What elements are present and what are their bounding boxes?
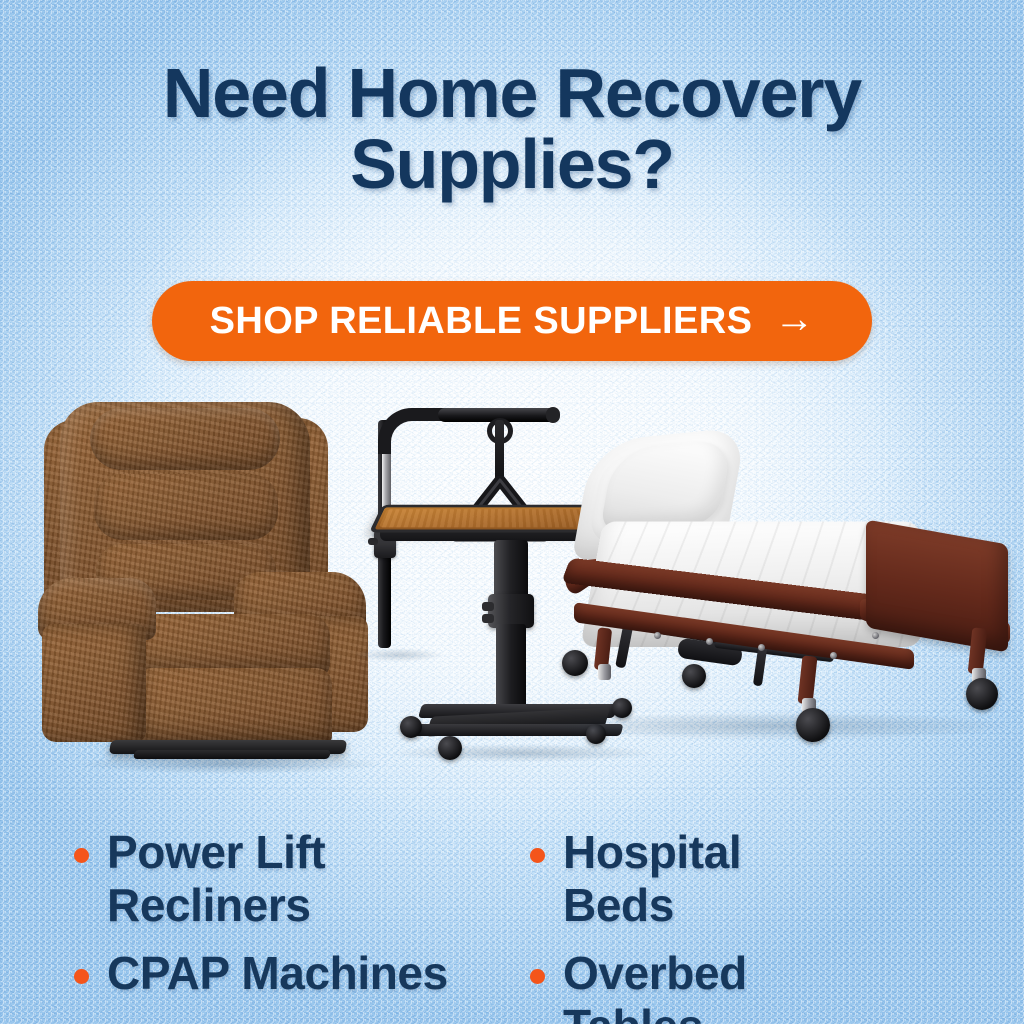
recliner-mid-cushion [94,474,278,540]
bed-rivet-1 [654,632,661,639]
bed-leg-chrome-1 [598,664,611,680]
table-caster-3 [438,736,462,760]
bed-rivet-4 [830,652,837,659]
cta-button-label: SHOP RELIABLE SUPPLIERS [210,300,753,343]
bed-caster-4 [682,664,706,688]
shop-reliable-suppliers-button[interactable]: SHOP RELIABLE SUPPLIERS → [152,281,872,361]
recliner-arm-left-panel [42,624,146,742]
hospital-bed-image [500,420,1010,760]
feature-list: Power Lift Recliners CPAP Machines Hospi… [0,826,1024,1024]
bed-caster-1 [562,650,588,676]
headline-line-1: Need Home Recovery [163,54,861,132]
table-adjust-knob-lower [482,614,494,623]
bed-caster-3 [966,678,998,710]
bed-rivet-2 [706,638,713,645]
list-item: Overbed Tables & Trapeze Bars [530,947,747,1024]
table-adjust-knob-upper [482,602,494,611]
table-caster-1 [400,716,422,738]
recliner-lift-base-lower [133,750,331,759]
product-image-group [0,380,1024,800]
bullet-dot-icon [530,848,545,863]
bed-caster-2 [796,708,830,742]
recliner-headrest-cushion [90,408,280,470]
bullet-dot-icon [530,969,545,984]
bed-floor-shadow [540,712,1010,740]
feature-label: Hospital Beds [563,826,747,933]
feature-column-right: Hospital Beds Overbed Tables & Trapeze B… [0,826,747,1024]
promo-banner: Need Home Recovery Supplies? SHOP RELIAB… [0,0,1024,1024]
arrow-right-icon: → [774,299,814,339]
headline-line-2: Supplies? [0,129,1024,200]
bed-rivet-5 [872,632,879,639]
recliner-footrest [138,668,332,746]
power-lift-recliner-image [38,402,368,752]
feature-label: Overbed Tables & Trapeze Bars [563,947,747,1024]
bed-rivet-3 [758,644,765,651]
list-item: Hospital Beds [530,826,747,933]
page-title: Need Home Recovery Supplies? [0,58,1024,201]
